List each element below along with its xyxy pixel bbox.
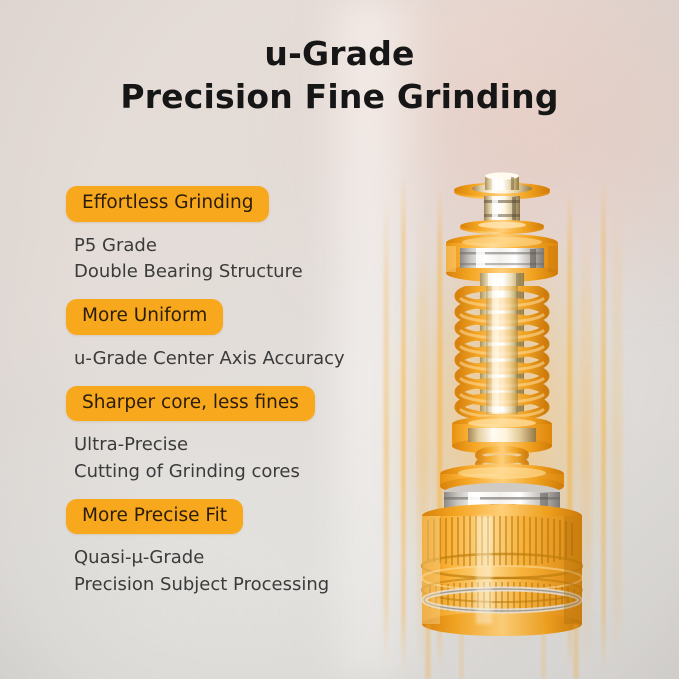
- feature-badge-more-uniform[interactable]: More Uniform: [66, 299, 223, 335]
- page-title: u-Grade Precision Fine Grinding: [0, 36, 679, 116]
- page-title-line1: u-Grade: [0, 36, 679, 73]
- feature-badge-sharper-core[interactable]: Sharper core, less fines: [66, 386, 315, 422]
- feature-description-sharper-core: Ultra-Precise Cutting of Grinding cores: [74, 432, 386, 485]
- feature-item-effortless-grinding: Effortless Grinding P5 Grade Double Bear…: [66, 186, 386, 285]
- feature-item-more-precise-fit: More Precise Fit Quasi-μ-Grade Precision…: [66, 499, 386, 598]
- feature-badge-more-precise-fit[interactable]: More Precise Fit: [66, 499, 243, 535]
- feature-description-effortless-grinding: P5 Grade Double Bearing Structure: [74, 233, 386, 286]
- feature-description-line: Precision Subject Processing: [74, 572, 386, 598]
- feature-description-line: Double Bearing Structure: [74, 259, 386, 285]
- feature-description-line: Cutting of Grinding cores: [74, 459, 386, 485]
- feature-description-line: P5 Grade: [74, 233, 386, 259]
- feature-list: Effortless Grinding P5 Grade Double Bear…: [66, 186, 386, 598]
- page-title-line2: Precision Fine Grinding: [0, 79, 679, 116]
- feature-item-more-uniform: More Uniform u-Grade Center Axis Accurac…: [66, 299, 386, 372]
- feature-description-more-precise-fit: Quasi-μ-Grade Precision Subject Processi…: [74, 545, 386, 598]
- feature-description-line: u-Grade Center Axis Accuracy: [74, 346, 386, 372]
- feature-description-line: Ultra-Precise: [74, 432, 386, 458]
- feature-badge-effortless-grinding[interactable]: Effortless Grinding: [66, 186, 269, 222]
- feature-description-line: Quasi-μ-Grade: [74, 545, 386, 571]
- feature-description-more-uniform: u-Grade Center Axis Accuracy: [74, 346, 386, 372]
- feature-item-sharper-core: Sharper core, less fines Ultra-Precise C…: [66, 386, 386, 485]
- product-infographic: u-Grade Precision Fine Grinding Effortle…: [0, 0, 679, 679]
